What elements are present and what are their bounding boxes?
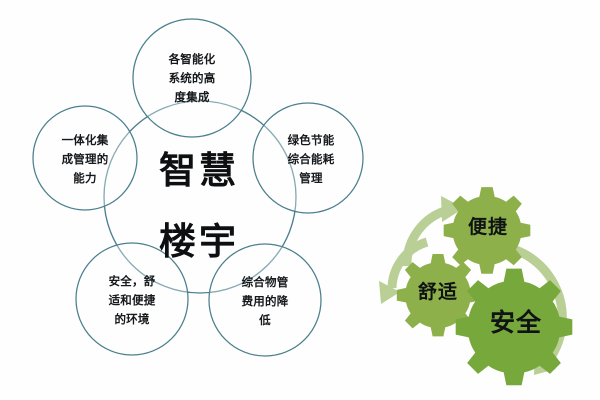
gear-bianjie-label: 便捷 (468, 215, 508, 238)
gear-bianjie[interactable]: 便捷 (444, 187, 531, 274)
diagram-canvas: 各智能化 系统的高 度集成 一体化集 成管理的 能力 绿色节能 综合能耗 管理 … (0, 0, 600, 400)
petal-right-line-3: 管理 (299, 171, 323, 185)
petal-left-line-2: 成管理的 (62, 152, 109, 166)
petal-label-bottom-left: 安全，舒 适和便捷 的环境 (109, 274, 156, 326)
petal-right-line-1: 绿色节能 (288, 133, 335, 147)
petal-top-line-1: 各智能化 (168, 52, 216, 66)
petal-br-line-1: 综合物管 (242, 275, 289, 289)
petal-label-top: 各智能化 系统的高 度集成 (168, 52, 216, 104)
petal-top-line-2: 系统的高 (169, 71, 216, 85)
petal-br-line-2: 费用的降 (242, 294, 289, 308)
petal-top-line-3: 度集成 (174, 90, 209, 104)
petal-bl-line-2: 适和便捷 (109, 293, 156, 307)
diagram-svg: 各智能化 系统的高 度集成 一体化集 成管理的 能力 绿色节能 综合能耗 管理 … (0, 0, 600, 400)
petal-br-line-3: 低 (258, 313, 271, 327)
gear-anquan-label: 安全 (490, 308, 542, 337)
gear-shushi-label: 舒适 (418, 280, 458, 303)
petal-left-line-1: 一体化集 (62, 133, 109, 147)
petal-bl-line-3: 的环境 (114, 312, 149, 326)
center-title-line-1: 智慧 (159, 149, 239, 192)
petal-left-line-3: 能力 (73, 171, 96, 185)
gear-anquan[interactable]: 安全 (456, 269, 573, 386)
petal-right-line-2: 综合能耗 (288, 152, 335, 166)
center-title-line-2: 楼宇 (159, 220, 239, 263)
petal-bl-line-1: 安全，舒 (109, 274, 156, 288)
